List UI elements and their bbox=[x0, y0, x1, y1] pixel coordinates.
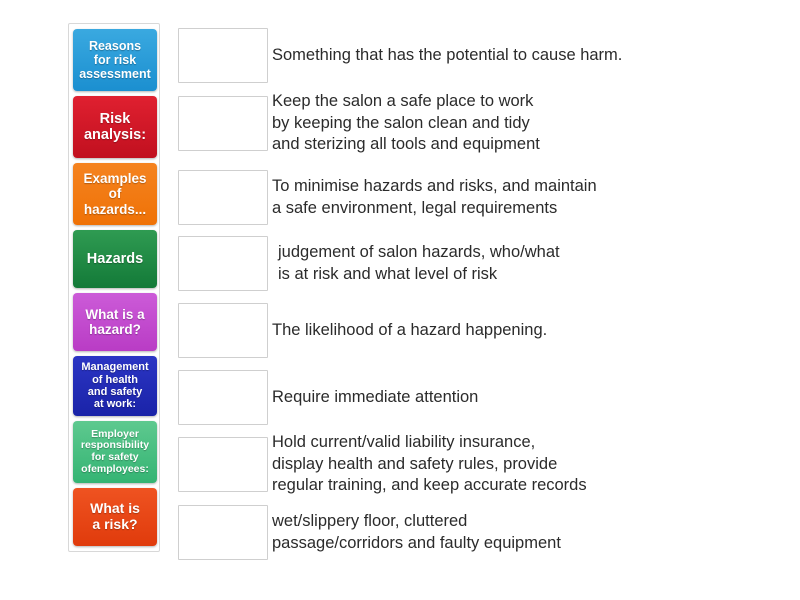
answer-slot: Something that has the potential to caus… bbox=[272, 28, 622, 83]
drop-zone-6[interactable] bbox=[178, 370, 268, 425]
answer-slot: wet/slippery floor, cluttered passage/co… bbox=[272, 505, 561, 560]
answer-slot: The likelihood of a hazard happening. bbox=[272, 303, 547, 358]
answer-text: Keep the salon a safe place to work by k… bbox=[272, 91, 540, 157]
tile-risk-analysis[interactable]: Risk analysis: bbox=[73, 96, 157, 158]
tile-label: What is a risk? bbox=[76, 501, 154, 532]
drop-zone-8[interactable] bbox=[178, 505, 268, 560]
tile-reasons-for-risk-assessment[interactable]: Reasons for risk assessment bbox=[73, 29, 157, 91]
tile-what-is-a-risk[interactable]: What is a risk? bbox=[73, 488, 157, 546]
answer-text: wet/slippery floor, cluttered passage/co… bbox=[272, 511, 561, 555]
answer-text: Something that has the potential to caus… bbox=[272, 45, 622, 67]
tile-employer-responsibility-for-safety-of-employees[interactable]: Employer responsibility for safety ofemp… bbox=[73, 421, 157, 483]
tile-what-is-a-hazard[interactable]: What is a hazard? bbox=[73, 293, 157, 351]
tile-label: Reasons for risk assessment bbox=[76, 39, 154, 81]
tile-label: Employer responsibility for safety ofemp… bbox=[76, 429, 154, 476]
answer-text: Hold current/valid liability insurance, … bbox=[272, 432, 587, 498]
drop-zone-5[interactable] bbox=[178, 303, 268, 358]
answer-text: The likelihood of a hazard happening. bbox=[272, 320, 547, 342]
drop-zone-7[interactable] bbox=[178, 437, 268, 492]
answer-text: To minimise hazards and risks, and maint… bbox=[272, 176, 597, 220]
drop-zone-1[interactable] bbox=[178, 28, 268, 83]
tile-hazards[interactable]: Hazards bbox=[73, 230, 157, 288]
tile-examples-of-hazards[interactable]: Examples of hazards... bbox=[73, 163, 157, 225]
drop-zone-2[interactable] bbox=[178, 96, 268, 151]
answer-text: Require immediate attention bbox=[272, 387, 478, 409]
tile-label: Examples of hazards... bbox=[76, 171, 154, 216]
tile-label: Risk analysis: bbox=[76, 111, 154, 143]
drop-zone-4[interactable] bbox=[178, 236, 268, 291]
tile-management-of-health-and-safety-at-work[interactable]: Management of health and safety at work: bbox=[73, 356, 157, 416]
answer-slot: To minimise hazards and risks, and maint… bbox=[272, 170, 597, 225]
match-up-activity: Reasons for risk assessmentRisk analysis… bbox=[0, 0, 800, 600]
answer-slot: judgement of salon hazards, who/what is … bbox=[272, 236, 560, 291]
tile-label: What is a hazard? bbox=[76, 307, 154, 337]
answer-slot: Require immediate attention bbox=[272, 370, 478, 425]
tile-tray: Reasons for risk assessmentRisk analysis… bbox=[68, 23, 160, 552]
tile-label: Hazards bbox=[76, 251, 154, 267]
drop-zone-3[interactable] bbox=[178, 170, 268, 225]
tile-label: Management of health and safety at work: bbox=[76, 361, 154, 410]
answer-text: judgement of salon hazards, who/what is … bbox=[272, 242, 560, 286]
answer-slot: Keep the salon a safe place to work by k… bbox=[272, 96, 540, 151]
answer-slot: Hold current/valid liability insurance, … bbox=[272, 437, 587, 492]
